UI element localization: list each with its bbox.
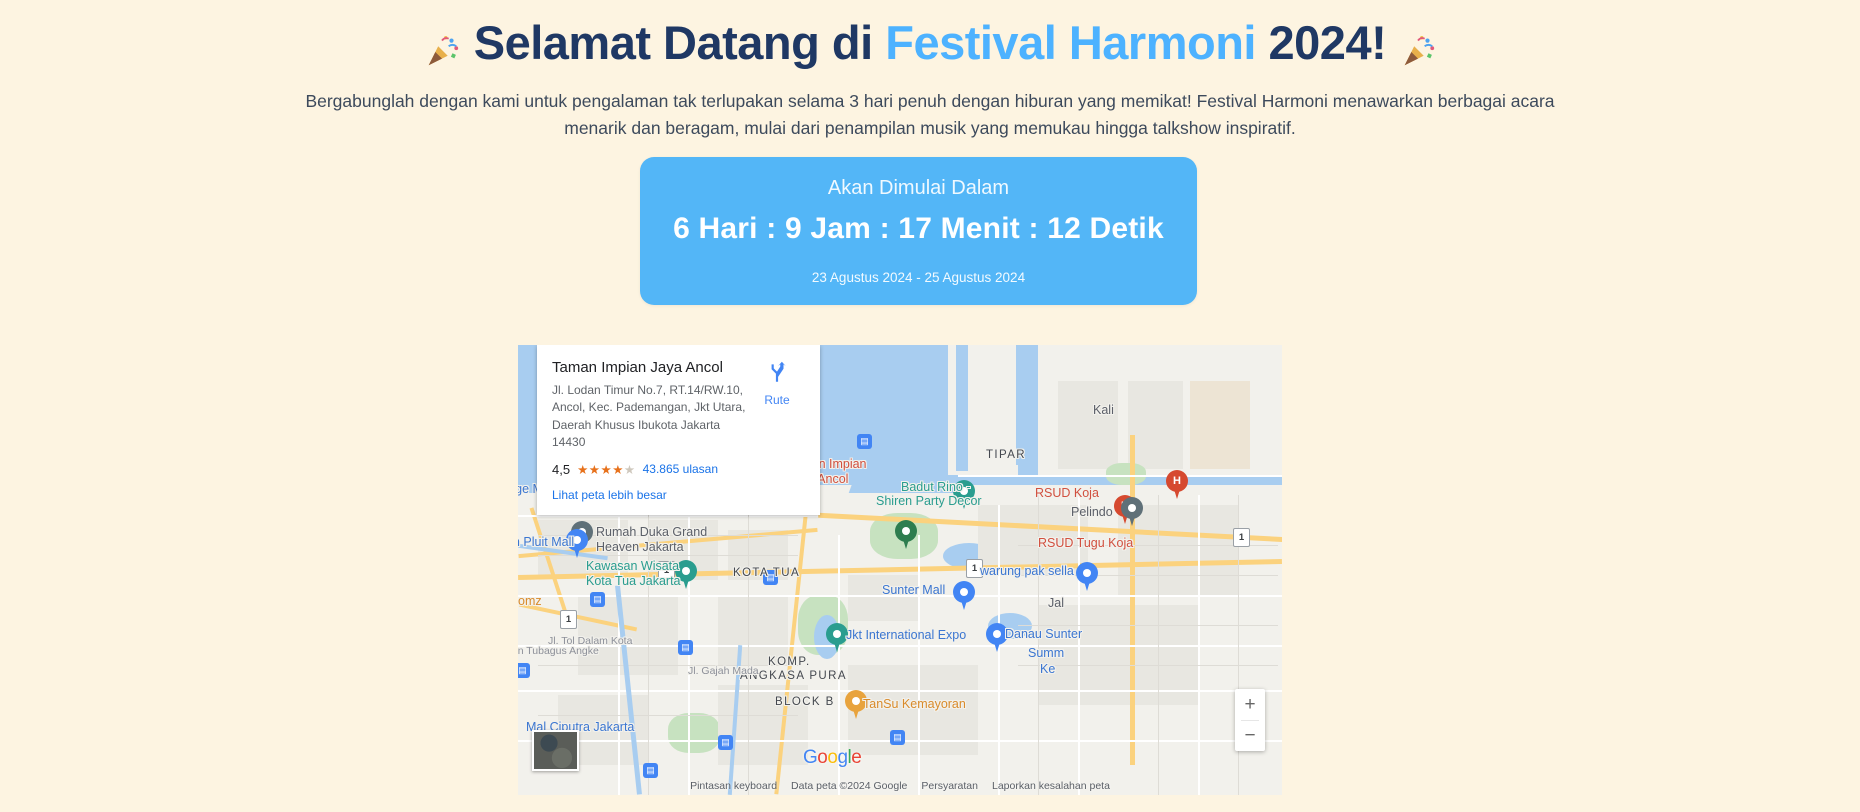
google-map-embed[interactable]: 1 1 1 1 ▤ ▤ ▤ ▤ ▤ ▤ ▤ ▤ HH DermagaKaliTI… xyxy=(518,345,1282,795)
map-pin-pelindo[interactable] xyxy=(1121,497,1143,527)
report-error-link[interactable]: Laporkan kesalahan peta xyxy=(992,780,1110,792)
map-label: Pangeran Tubagus Angke xyxy=(518,645,599,657)
google-logo: Google xyxy=(803,747,861,769)
countdown-timer: 6 Hari : 9 Jam : 17 Menit : 12 Detik xyxy=(640,212,1197,246)
map-label: Jl. Gajah Mada xyxy=(688,665,759,677)
zoom-divider xyxy=(1241,720,1259,721)
logo-g2: g xyxy=(837,747,847,768)
review-count[interactable]: 43.865 ulasan xyxy=(643,462,718,476)
logo-o1: o xyxy=(817,747,827,768)
keyboard-shortcuts-link[interactable]: Pintasan keyboard xyxy=(690,780,777,792)
rating-value: 4,5 xyxy=(552,462,570,477)
countdown-banner: Akan Dimulai Dalam 6 Hari : 9 Jam : 17 M… xyxy=(640,157,1197,305)
map-pin-rsud-koja-hospital[interactable]: H xyxy=(1166,470,1188,500)
place-info-card[interactable]: Taman Impian Jaya Ancol Jl. Lodan Timur … xyxy=(537,345,820,515)
logo-o2: o xyxy=(827,747,837,768)
train-station-icon: ▤ xyxy=(590,592,605,607)
map-label: BLOCK B xyxy=(775,696,835,708)
rating-stars-icon: ★★★★★ xyxy=(577,462,636,477)
map-label: KOTA TUA xyxy=(733,567,800,579)
countdown-label: Akan Dimulai Dalam xyxy=(640,157,1197,200)
highway-shield-4: 1 xyxy=(560,610,577,629)
map-label: Heaven Jakarta xyxy=(596,540,684,554)
place-address: Jl. Lodan Timur No.7, RT.14/RW.10, Ancol… xyxy=(552,382,748,452)
terms-link[interactable]: Persyaratan xyxy=(921,780,978,792)
view-larger-map-link[interactable]: Lihat peta lebih besar xyxy=(552,488,805,502)
map-label: Rumah Duka Grand xyxy=(596,525,707,539)
train-station-icon: ▤ xyxy=(890,730,905,745)
map-attribution-bar: Pintasan keyboard Data peta ©2024 Google… xyxy=(518,780,1282,792)
map-label: Kota Tua Jakarta xyxy=(586,574,681,588)
confetti-icon-right xyxy=(1399,28,1437,66)
map-label: Summ xyxy=(1028,646,1064,660)
festival-landing-page: Selamat Datang di Festival Harmoni 2024!… xyxy=(0,0,1860,812)
zoom-in-button[interactable]: + xyxy=(1235,689,1265,720)
map-data-text: Data peta ©2024 Google xyxy=(791,780,907,792)
map-label: Emporium Pluit Mall xyxy=(518,535,574,549)
map-label: Jal xyxy=(1048,596,1064,610)
highway-shield-3: 1 xyxy=(1233,528,1250,547)
train-station-icon: ▤ xyxy=(518,663,530,678)
map-label: Sunter Mall xyxy=(882,583,945,597)
train-station-icon: ▤ xyxy=(718,735,733,750)
map-label: Badut Rino - xyxy=(901,480,970,494)
map-label: Jkt International Expo xyxy=(846,628,966,642)
countdown-dates: 23 Agustus 2024 - 25 Agustus 2024 xyxy=(640,270,1197,285)
map-label: TanSu Kemayoran xyxy=(863,697,966,711)
train-station-icon: ▤ xyxy=(643,763,658,778)
map-pin-park-green[interactable] xyxy=(895,520,917,550)
map-zoom-controls[interactable]: + − xyxy=(1235,689,1265,751)
place-rating-row: 4,5 ★★★★★ 43.865 ulasan xyxy=(552,462,805,477)
map-label: RSUD Tugu Koja xyxy=(1038,536,1133,550)
directions-button[interactable]: Rute xyxy=(748,359,806,407)
logo-g: G xyxy=(803,747,817,768)
map-pin-warung-pak-sella[interactable] xyxy=(1076,562,1098,592)
page-title-part1: Selamat Datang di xyxy=(474,16,886,69)
map-pin-jkt-international-expo[interactable] xyxy=(826,623,848,653)
map-label: Kawasan Wisata xyxy=(586,559,679,573)
map-label: TIPAR xyxy=(986,449,1026,461)
map-label: Angkringan Komz xyxy=(518,594,542,608)
map-label: RSUD Koja xyxy=(1035,486,1099,500)
map-label: KOMP. xyxy=(768,656,811,668)
map-label: Danau Sunter xyxy=(1005,627,1082,641)
confetti-icon-left xyxy=(423,28,461,66)
page-title-accent: Festival Harmoni xyxy=(885,16,1256,69)
train-station-icon: ▤ xyxy=(857,434,872,449)
page-title-part2: 2024! xyxy=(1256,16,1386,69)
directions-arrow-icon xyxy=(748,359,806,390)
map-label: warung pak sella xyxy=(980,564,1074,578)
map-label: Pelindo xyxy=(1071,505,1113,519)
zoom-out-button[interactable]: − xyxy=(1235,720,1265,751)
train-station-icon: ▤ xyxy=(678,640,693,655)
map-label: Kali xyxy=(1093,403,1114,417)
hero-section: Selamat Datang di Festival Harmoni 2024!… xyxy=(0,0,1860,142)
map-pin-sunter-mall[interactable] xyxy=(953,581,975,611)
hero-description: Bergabunglah dengan kami untuk pengalama… xyxy=(303,88,1558,142)
map-label: Shiren Party Decor xyxy=(876,494,982,508)
page-title: Selamat Datang di Festival Harmoni 2024! xyxy=(0,16,1860,70)
directions-label: Rute xyxy=(748,393,806,407)
map-type-thumbnail[interactable] xyxy=(532,730,579,771)
logo-e: e xyxy=(851,747,861,768)
map-label: Ke xyxy=(1040,662,1055,676)
